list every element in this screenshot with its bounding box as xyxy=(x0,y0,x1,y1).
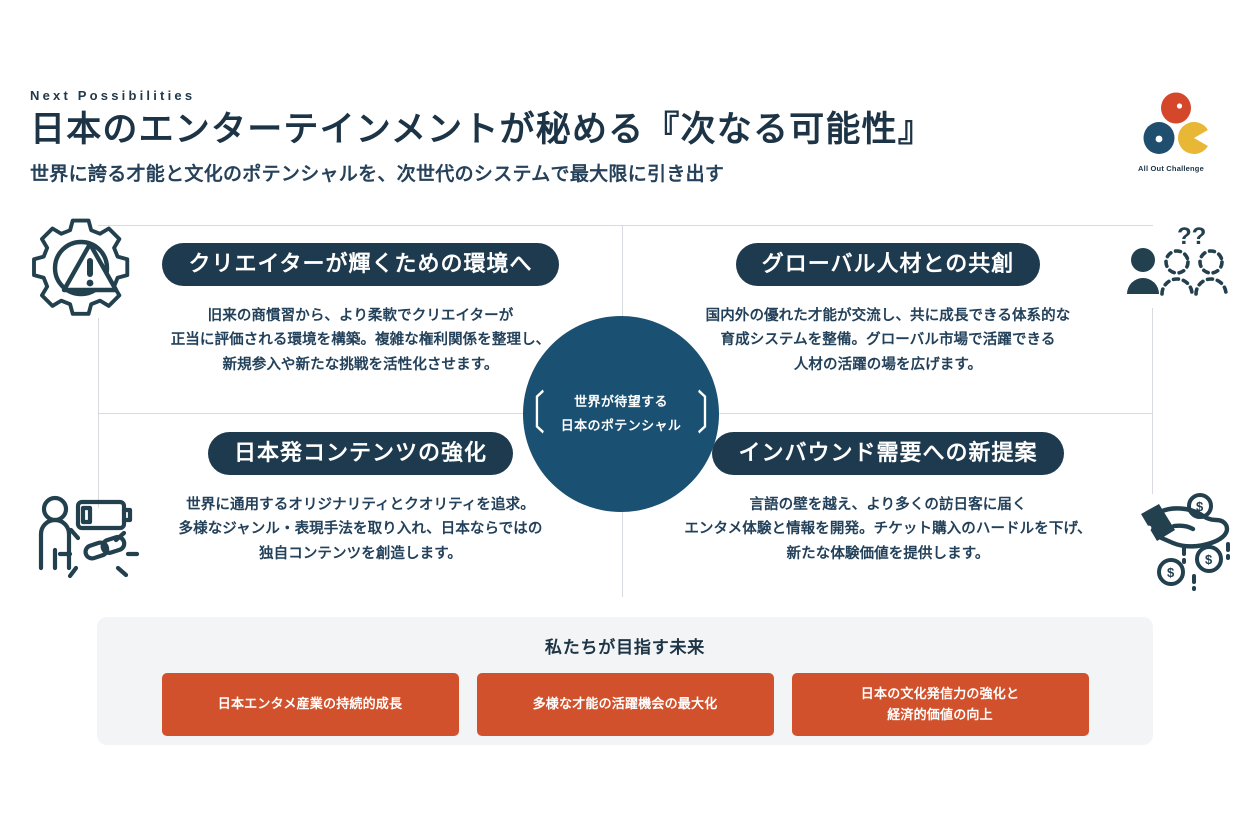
svg-text:$: $ xyxy=(1205,552,1213,567)
goal-pill[interactable]: 多様な才能の活躍機会の最大化 xyxy=(477,673,774,736)
goal-pill-row: 日本エンタメ産業の持続的成長 多様な才能の活躍機会の最大化 日本の文化発信力の強… xyxy=(97,673,1153,736)
bracket-right-icon: 〕 xyxy=(697,391,729,437)
quadrant-badge: クリエイターが輝くための環境へ xyxy=(162,243,558,286)
grid-line-right-vertical xyxy=(1152,308,1153,494)
body-line: 育成システムを整備。グローバル市場で活躍できる xyxy=(628,328,1148,352)
goal-pill[interactable]: 日本エンタメ産業の持続的成長 xyxy=(162,673,459,736)
grid-line-top xyxy=(98,225,1153,226)
center-circle-text: 世界が待望する 日本のポテンシャル xyxy=(561,390,682,438)
header: Next Possibilities 日本のエンターテインメントが秘める『次なる… xyxy=(30,88,1210,186)
body-line: エンタメ体験と情報を開発。チケット購入のハードルを下げ、 xyxy=(628,517,1148,541)
center-line-2: 日本のポテンシャル xyxy=(561,414,682,438)
page-subtitle: 世界に誇る才能と文化のポテンシャルを、次世代のシステムで最大限に引き出す xyxy=(30,159,1210,186)
pill-line: 日本エンタメ産業の持続的成長 xyxy=(218,694,402,714)
pill-line: 経済的価値の向上 xyxy=(861,705,1019,725)
svg-text:$: $ xyxy=(1196,499,1204,514)
quadrant-body: 言語の壁を越え、より多くの訪日客に届く エンタメ体験と情報を開発。チケット購入の… xyxy=(628,493,1148,566)
brand-logo: All Out Challenge xyxy=(1121,92,1221,192)
quadrant-badge: グローバル人材との共創 xyxy=(736,243,1041,286)
bracket-left-icon: 〔 xyxy=(513,391,545,437)
body-line: 言語の壁を越え、より多くの訪日客に届く xyxy=(628,493,1148,517)
body-line: 多様なジャンル・表現手法を取り入れ、日本ならではの xyxy=(103,517,618,541)
body-line: 独自コンテンツを創造します。 xyxy=(103,542,618,566)
future-goals-panel: 私たちが目指す未来 日本エンタメ産業の持続的成長 多様な才能の活躍機会の最大化 … xyxy=(97,617,1153,745)
infographic-page: Next Possibilities 日本のエンターテインメントが秘める『次なる… xyxy=(0,0,1243,826)
pill-line: 多様な才能の活躍機会の最大化 xyxy=(533,694,718,714)
center-line-1: 世界が待望する xyxy=(561,390,682,414)
body-line: 世界に通用するオリジナリティとクオリティを追求。 xyxy=(103,493,618,517)
quadrant-badge: インバウンド需要への新提案 xyxy=(712,432,1063,475)
center-circle: 〔 世界が待望する 日本のポテンシャル 〕 xyxy=(523,316,719,512)
body-line: 正当に評価される環境を構築。複雑な権利関係を整理し、 xyxy=(103,328,618,352)
svg-text:$: $ xyxy=(1167,565,1175,580)
quadrant-badge: 日本発コンテンツの強化 xyxy=(208,432,513,475)
goal-pill[interactable]: 日本の文化発信力の強化と 経済的価値の向上 xyxy=(792,673,1089,736)
logo-caption: All Out Challenge xyxy=(1121,164,1221,173)
quadrant-global-talent: グローバル人材との共創 国内外の優れた才能が交流し、共に成長できる体系的な 育成… xyxy=(628,243,1148,377)
body-line: 新たな体験価値を提供します。 xyxy=(628,542,1148,566)
logo-mark-icon xyxy=(1121,92,1221,164)
hand-coins-icon: $$$ xyxy=(1138,492,1243,597)
body-line: 旧来の商慣習から、より柔軟でクリエイターが xyxy=(103,304,618,328)
body-line: 国内外の優れた才能が交流し、共に成長できる体系的な xyxy=(628,304,1148,328)
svg-text:??: ?? xyxy=(1177,223,1206,250)
quadrant-body: 世界に通用するオリジナリティとクオリティを追求。 多様なジャンル・表現手法を取り… xyxy=(103,493,618,566)
page-title: 日本のエンターテインメントが秘める『次なる可能性』 xyxy=(30,109,1210,150)
eyebrow-label: Next Possibilities xyxy=(30,88,1210,103)
pill-line: 日本の文化発信力の強化と xyxy=(861,684,1019,704)
grid-line-left-vertical xyxy=(98,318,99,508)
footer-title: 私たちが目指す未来 xyxy=(97,633,1153,658)
